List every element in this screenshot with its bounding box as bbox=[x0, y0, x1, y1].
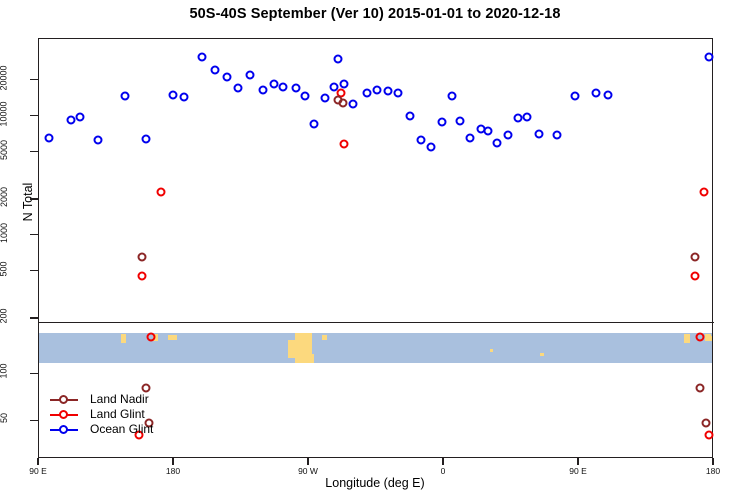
landmass-nz-far-right-b bbox=[711, 336, 712, 341]
data-point-ocean_glint bbox=[259, 85, 268, 94]
data-point-ocean_glint bbox=[121, 92, 130, 101]
data-point-ocean_glint bbox=[704, 53, 713, 62]
y-tick-label-2000: 2000 bbox=[0, 192, 34, 202]
landmass-kerguelen bbox=[490, 349, 493, 352]
data-point-land_nadir bbox=[691, 253, 700, 262]
data-point-ocean_glint bbox=[233, 84, 242, 93]
data-point-ocean_glint bbox=[76, 112, 85, 121]
data-point-land_nadir bbox=[137, 253, 146, 262]
landmass-new-zealand-south bbox=[121, 334, 126, 343]
landmass-nz-far-right-a bbox=[705, 334, 710, 342]
y-tick-label-200: 200 bbox=[0, 311, 34, 321]
data-point-ocean_glint bbox=[604, 90, 613, 99]
data-point-ocean_glint bbox=[535, 130, 544, 139]
data-point-ocean_glint bbox=[571, 92, 580, 101]
data-point-land_glint bbox=[137, 272, 146, 281]
data-point-ocean_glint bbox=[292, 84, 301, 93]
data-point-ocean_glint bbox=[523, 112, 532, 121]
data-point-land_glint bbox=[695, 333, 704, 342]
x-tick-5 bbox=[712, 458, 713, 465]
legend-label-ocean_glint: Ocean Glint bbox=[90, 422, 153, 437]
data-point-ocean_glint bbox=[427, 142, 436, 151]
data-point-ocean_glint bbox=[223, 73, 232, 82]
data-point-land_glint bbox=[157, 187, 166, 196]
data-point-land_glint bbox=[704, 431, 713, 440]
data-point-land_nadir bbox=[701, 419, 710, 428]
data-point-land_glint bbox=[700, 187, 709, 196]
data-point-ocean_glint bbox=[373, 85, 382, 94]
latitude-strip-map bbox=[39, 333, 712, 363]
data-point-ocean_glint bbox=[301, 92, 310, 101]
data-point-ocean_glint bbox=[269, 79, 278, 88]
data-point-ocean_glint bbox=[142, 134, 151, 143]
data-point-ocean_glint bbox=[493, 138, 502, 147]
data-point-ocean_glint bbox=[503, 130, 512, 139]
x-tick-label-0: 90 E bbox=[29, 466, 47, 476]
data-point-ocean_glint bbox=[406, 111, 415, 120]
x-tick-3 bbox=[442, 458, 443, 465]
data-point-ocean_glint bbox=[94, 135, 103, 144]
data-point-ocean_glint bbox=[278, 82, 287, 91]
data-point-ocean_glint bbox=[169, 90, 178, 99]
landmass-south-america-west bbox=[288, 340, 296, 359]
data-point-land_glint bbox=[340, 139, 349, 148]
legend-label-land_nadir: Land Nadir bbox=[90, 392, 149, 407]
data-point-ocean_glint bbox=[416, 136, 425, 145]
x-tick-4 bbox=[577, 458, 578, 465]
panel-break-line bbox=[38, 322, 714, 323]
landmass-new-zealand-east bbox=[168, 335, 177, 339]
page-title: 50S-40S September (Ver 10) 2015-01-01 to… bbox=[0, 6, 750, 22]
data-point-ocean_glint bbox=[383, 86, 392, 95]
legend-marker-land_nadir-icon bbox=[46, 392, 82, 407]
x-tick-0 bbox=[37, 458, 38, 465]
landmass-falklands bbox=[322, 335, 327, 340]
scatter-plot-figure: 50S-40S September (Ver 10) 2015-01-01 to… bbox=[0, 0, 750, 500]
data-point-land_nadir bbox=[338, 98, 347, 107]
x-tick-1 bbox=[172, 458, 173, 465]
data-point-land_glint bbox=[691, 272, 700, 281]
landmass-south-america-tip bbox=[303, 354, 314, 363]
data-point-ocean_glint bbox=[44, 133, 53, 142]
data-point-ocean_glint bbox=[553, 130, 562, 139]
y-tick-label-1000: 1000 bbox=[0, 228, 34, 238]
x-tick-label-4: 90 E bbox=[569, 466, 587, 476]
data-point-ocean_glint bbox=[592, 89, 601, 98]
x-tick-label-1: 180 bbox=[166, 466, 180, 476]
x-tick-label-5: 180 bbox=[706, 466, 720, 476]
legend-marker-land_glint-icon bbox=[46, 407, 82, 422]
data-point-ocean_glint bbox=[197, 53, 206, 62]
data-point-ocean_glint bbox=[340, 79, 349, 88]
data-point-ocean_glint bbox=[349, 100, 358, 109]
data-point-ocean_glint bbox=[394, 89, 403, 98]
y-tick-label-10000: 10000 bbox=[0, 109, 34, 119]
y-tick-label-50: 50 bbox=[0, 413, 34, 423]
data-point-ocean_glint bbox=[179, 93, 188, 102]
data-point-ocean_glint bbox=[334, 54, 343, 63]
data-point-ocean_glint bbox=[320, 94, 329, 103]
landmass-tasmania bbox=[684, 334, 690, 343]
y-tick-label-20000: 20000 bbox=[0, 73, 34, 83]
y-tick-label-5000: 5000 bbox=[0, 145, 34, 155]
x-axis-label: Longitude (deg E) bbox=[0, 476, 750, 490]
landmass-tasmania-speck bbox=[540, 353, 543, 356]
y-tick-label-100: 100 bbox=[0, 366, 34, 376]
legend-marker-ocean_glint-icon bbox=[46, 422, 82, 437]
data-point-ocean_glint bbox=[67, 116, 76, 125]
y-tick-label-500: 500 bbox=[0, 264, 34, 274]
data-point-ocean_glint bbox=[362, 89, 371, 98]
x-tick-label-2: 90 W bbox=[298, 466, 318, 476]
data-point-ocean_glint bbox=[310, 120, 319, 129]
data-point-ocean_glint bbox=[448, 92, 457, 101]
data-point-ocean_glint bbox=[466, 133, 475, 142]
legend-label-land_glint: Land Glint bbox=[90, 407, 145, 422]
data-point-ocean_glint bbox=[211, 66, 220, 75]
data-point-ocean_glint bbox=[245, 70, 254, 79]
data-point-ocean_glint bbox=[455, 117, 464, 126]
data-point-land_nadir bbox=[695, 384, 704, 393]
data-point-ocean_glint bbox=[484, 126, 493, 135]
data-point-ocean_glint bbox=[437, 118, 446, 127]
data-point-land_glint bbox=[146, 333, 155, 342]
data-point-ocean_glint bbox=[514, 114, 523, 123]
x-tick-2 bbox=[307, 458, 308, 465]
x-tick-label-3: 0 bbox=[441, 466, 446, 476]
